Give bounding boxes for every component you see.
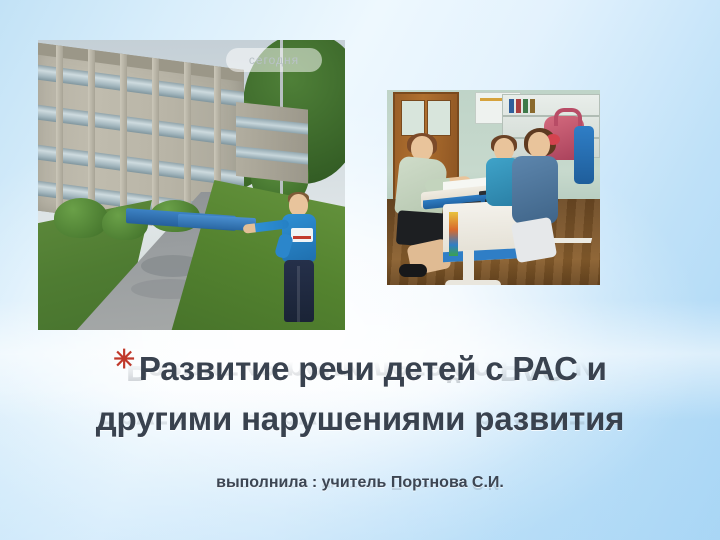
school-building-wing: [236, 102, 308, 184]
desk-color-strip: [449, 212, 458, 256]
title-line-2: другими нарушениями развития другими нар…: [0, 402, 720, 436]
tshirt-logo: [291, 228, 313, 242]
window-row: [236, 116, 308, 135]
title-line-2-text: другими нарушениями развития: [96, 400, 624, 437]
subtitle-text: выполнила : учитель Портнова С.И.выполни…: [216, 474, 504, 492]
door-glass-pane: [427, 100, 451, 136]
building-column: [152, 58, 159, 227]
building-column: [120, 54, 127, 223]
classroom-lesson-photo[interactable]: [387, 90, 600, 285]
slide-title-block: ✳Развитие речи детей с РАС и Развитие ре…: [0, 346, 720, 435]
book-icon: [530, 99, 535, 113]
slide-subtitle-block: выполнила : учитель Портнова С.И.выполни…: [0, 474, 720, 492]
door-glass-pane: [401, 100, 425, 136]
student-figure: [510, 132, 574, 284]
subtitle-reflection: выполнила : учитель Портнова С.И.: [216, 474, 504, 492]
teacher-shoe: [399, 264, 427, 277]
asterisk-bullet-icon: ✳: [113, 344, 135, 374]
boy-head: [289, 194, 308, 216]
book-icon: [523, 99, 528, 113]
boy-pointing-figure: [265, 194, 327, 322]
boy-trousers: [284, 260, 314, 322]
bush-icon: [54, 198, 108, 238]
book-icon: [509, 99, 514, 113]
window-row: [236, 146, 308, 165]
title-line-1: ✳Развитие речи детей с РАС и Развитие ре…: [0, 346, 720, 386]
chair-backrest: [574, 126, 594, 184]
school-building-photo[interactable]: сегодня: [38, 40, 345, 330]
student-legs: [511, 217, 557, 263]
presentation-slide: сегодня: [0, 0, 720, 540]
book-icon: [516, 99, 521, 113]
building-column: [88, 49, 95, 218]
desk-foot: [445, 280, 501, 285]
title-line-1-text: Развитие речи детей с РАС и: [139, 350, 607, 387]
building-column: [56, 45, 63, 214]
student-denim-jacket: [512, 156, 558, 224]
student-head: [528, 132, 550, 158]
photo-watermark: сегодня: [226, 48, 322, 72]
